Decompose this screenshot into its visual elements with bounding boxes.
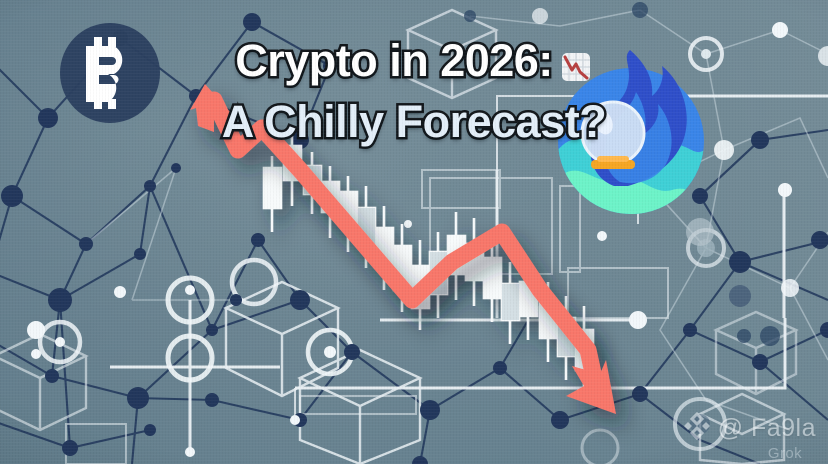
candlestick-chart <box>0 0 828 464</box>
watermark-source: Grok <box>768 445 802 462</box>
candle-series <box>264 132 593 392</box>
social-graphic-canvas: Crypto in 2026: A Chilly Forecast? <box>0 0 828 464</box>
